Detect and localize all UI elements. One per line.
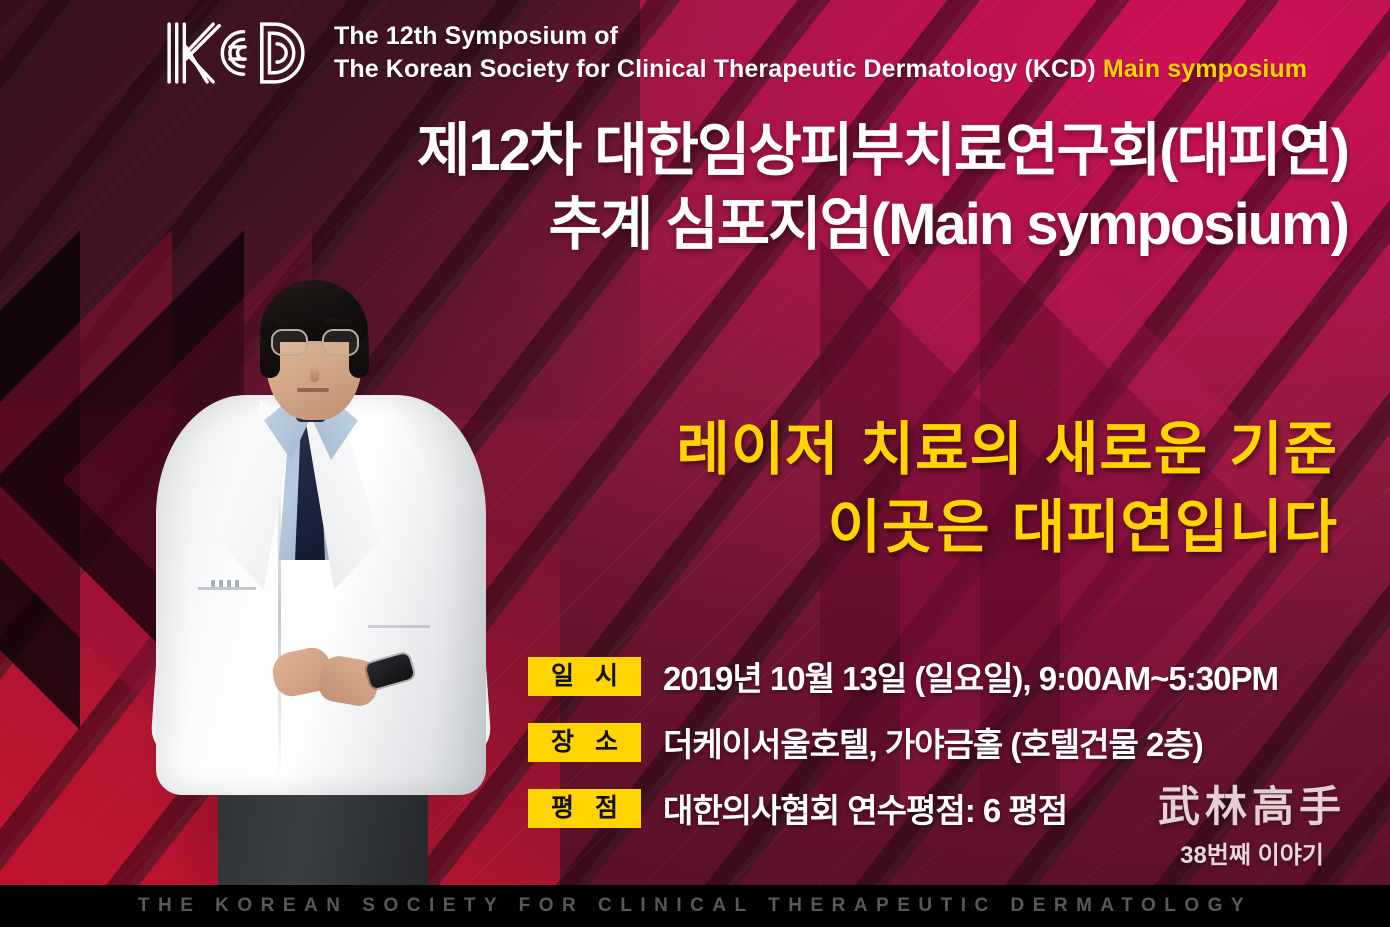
series-logo: 武林高手 38번째 이야기 <box>1158 785 1346 870</box>
info-label-date: 일 시 <box>528 657 641 696</box>
info-value-date: 2019년 10월 13일 (일요일), 9:00AM~5:30PM <box>663 652 1278 700</box>
header-line-2: The Korean Society for Clinical Therapeu… <box>334 53 1307 86</box>
footer-society-name: THE KOREAN SOCIETY FOR CLINICAL THERAPEU… <box>138 895 1252 917</box>
info-value-credits: 대한의사협회 연수평점: 6 평점 <box>663 784 1067 832</box>
nose <box>310 366 319 382</box>
eyeglasses-bridge <box>308 341 322 344</box>
info-row-venue: 장 소 더케이서울호텔, 가야금홀 (호텔건물 2층) <box>528 718 1278 766</box>
info-label-venue: 장 소 <box>528 723 641 762</box>
tagline-line-1: 레이저 치료의 새로운 기준 <box>0 410 1338 488</box>
coat-pocket-left <box>198 587 256 590</box>
title-line-2: 추계 심포지엄(Main symposium) <box>0 192 1348 258</box>
symposium-poster: The 12th Symposium of The Korean Society… <box>0 0 1390 927</box>
eyeglasses-lens-right <box>322 329 359 356</box>
info-label-credits: 평 점 <box>528 789 641 828</box>
header-text-lines: The 12th Symposium of The Korean Society… <box>334 14 1307 87</box>
mouth <box>297 388 329 392</box>
poster-header: The 12th Symposium of The Korean Society… <box>160 14 1307 92</box>
info-value-venue: 더케이서울호텔, 가야금홀 (호텔건물 2층) <box>663 718 1203 766</box>
header-line-2-highlight: Main symposium <box>1103 55 1307 83</box>
header-line-2-main: The Korean Society for Clinical Therapeu… <box>334 55 1096 83</box>
tagline-line-2: 이곳은 대피연입니다 <box>0 488 1338 566</box>
footer-bar: THE KOREAN SOCIETY FOR CLINICAL THERAPEU… <box>0 885 1390 927</box>
coat-pocket-right <box>368 625 430 628</box>
series-title-cn: 武林高手 <box>1158 785 1346 829</box>
tagline: 레이저 치료의 새로운 기준 이곳은 대피연입니다 <box>0 410 1338 567</box>
info-row-date: 일 시 2019년 10월 13일 (일요일), 9:00AM~5:30PM <box>528 652 1278 700</box>
page-title: 제12차 대한임상피부치료연구회(대피연) 추계 심포지엄(Main sympo… <box>0 118 1348 258</box>
eyeglasses-lens-left <box>271 329 308 356</box>
series-subtitle-ko: 38번째 이야기 <box>1158 835 1346 870</box>
pocket-pens <box>211 580 241 587</box>
header-line-1: The 12th Symposium of <box>334 20 1307 53</box>
kcd-logo-icon <box>160 14 312 92</box>
title-line-1: 제12차 대한임상피부치료연구회(대피연) <box>0 118 1348 184</box>
